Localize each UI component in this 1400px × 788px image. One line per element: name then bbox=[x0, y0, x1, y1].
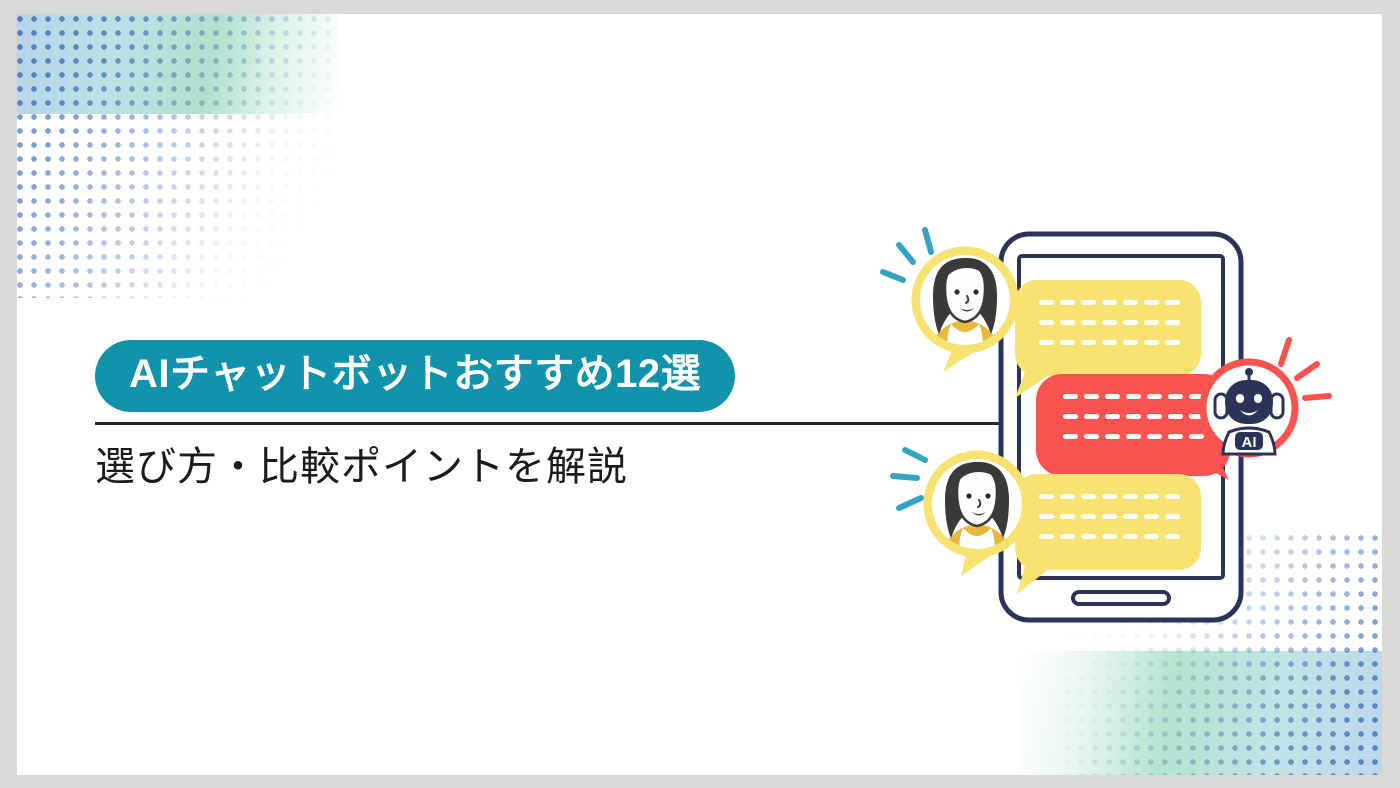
halftone-fade-mask bbox=[17, 14, 341, 300]
halftone-gradient-tint bbox=[1020, 651, 1382, 775]
bot-bubble bbox=[1036, 374, 1230, 480]
page-title: AIチャットボットおすすめ12選 bbox=[95, 340, 735, 412]
halftone-dots bbox=[17, 14, 339, 298]
robot-chest-label: AI bbox=[1242, 434, 1257, 451]
slide-canvas: AIチャットボットおすすめ12選 選び方・比較ポイントを解説 bbox=[0, 0, 1400, 788]
spark-lines-icon bbox=[893, 450, 925, 508]
avatar-woman-top bbox=[883, 230, 1017, 372]
chatbot-illustration: AI bbox=[877, 212, 1337, 642]
slide-page: AIチャットボットおすすめ12選 選び方・比較ポイントを解説 bbox=[17, 14, 1382, 775]
halftone-gradient-tint bbox=[17, 14, 339, 114]
halftone-decoration-top-left bbox=[17, 14, 339, 298]
